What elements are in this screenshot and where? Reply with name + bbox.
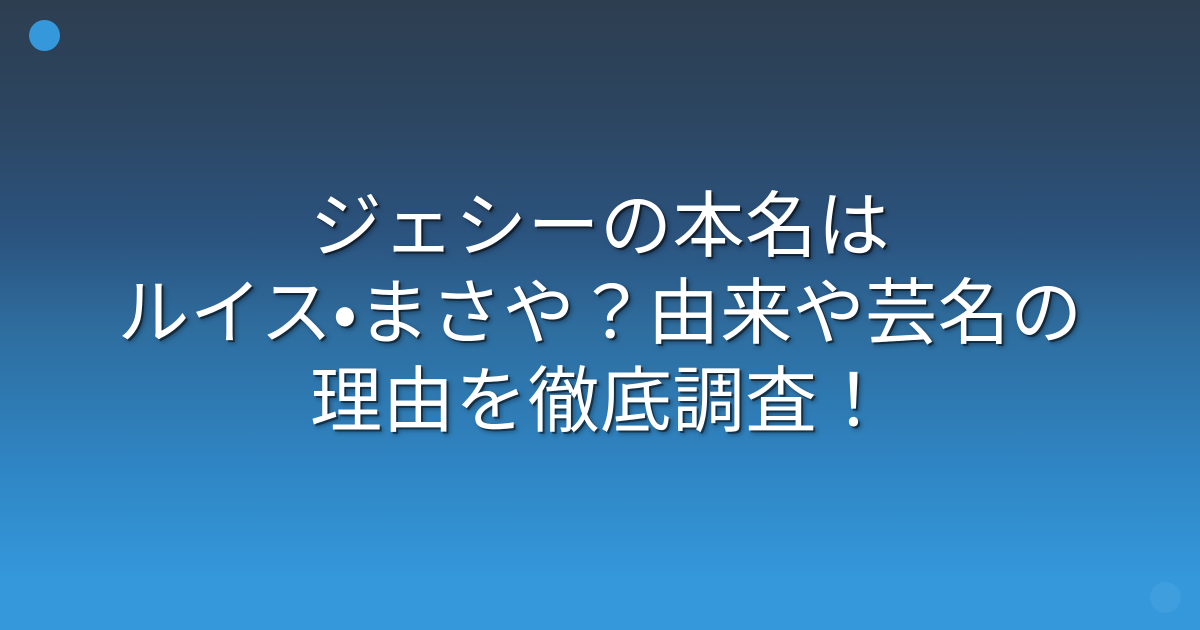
page-title: ジェシーの本名は ルイス・まさや？由来や芸名の 理由を徹底調査！	[70, 184, 1130, 445]
circle-decoration-icon-bottom-right	[1150, 582, 1181, 613]
title-container: ジェシーの本名は ルイス・まさや？由来や芸名の 理由を徹底調査！	[50, 184, 1150, 445]
ogp-card: ジェシーの本名は ルイス・まさや？由来や芸名の 理由を徹底調査！	[0, 0, 1200, 630]
circle-decoration-icon-top-left	[29, 20, 60, 51]
